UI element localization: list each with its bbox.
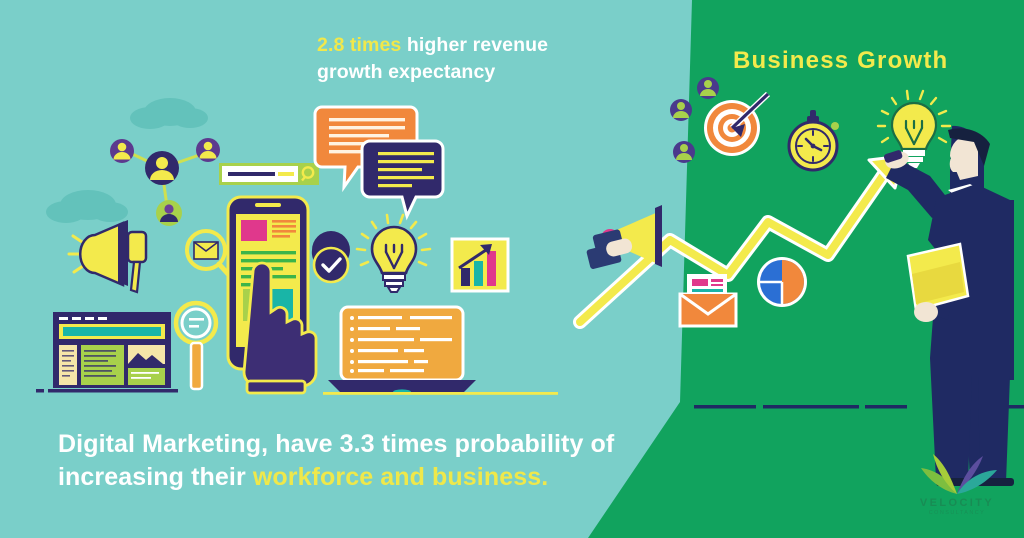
megaphone-hand-icon[interactable]	[586, 205, 662, 270]
pie-chart-icon	[757, 257, 807, 307]
envelope-magnifier-icon	[187, 231, 228, 274]
caption-accent: workforce and business.	[253, 463, 548, 491]
businessman-figure	[883, 126, 1014, 486]
browser-window-icon	[36, 312, 178, 393]
logo-tagline: CONSULTANCY	[903, 510, 1011, 516]
smartphone-hand	[228, 197, 316, 393]
checkmark-badge	[312, 231, 350, 282]
search-bar[interactable]	[219, 163, 319, 185]
right-illustration	[560, 60, 1024, 480]
bar-chart-icon	[452, 239, 508, 291]
headline-accent: 2.8 times	[317, 34, 401, 56]
magnifier-icon	[176, 303, 216, 389]
speech-bubble-navy	[362, 141, 443, 216]
megaphone-icon	[69, 220, 146, 292]
caption-stat: Digital Marketing, have 3.3 times probab…	[58, 428, 658, 494]
stopwatch-icon	[789, 110, 839, 170]
envelope-icon	[680, 275, 736, 326]
lightbulb-icon	[357, 215, 430, 292]
cloud-icon	[46, 190, 128, 223]
target-dart-icon	[704, 94, 768, 156]
cloud-icon	[130, 98, 208, 129]
logo-name: VELOCITY	[903, 497, 1011, 509]
headline-stat: 2.8 times higher revenue growth expectan…	[317, 32, 617, 86]
laptop-icon	[323, 307, 558, 395]
velocity-logo[interactable]: VELOCITY CONSULTANCY	[903, 450, 1011, 528]
page-title: Business Growth	[733, 47, 948, 75]
ground-line	[694, 405, 1024, 409]
infographic-canvas: 2.8 times higher revenue growth expectan…	[0, 0, 1024, 538]
logo-leaf-icon	[903, 450, 1011, 496]
